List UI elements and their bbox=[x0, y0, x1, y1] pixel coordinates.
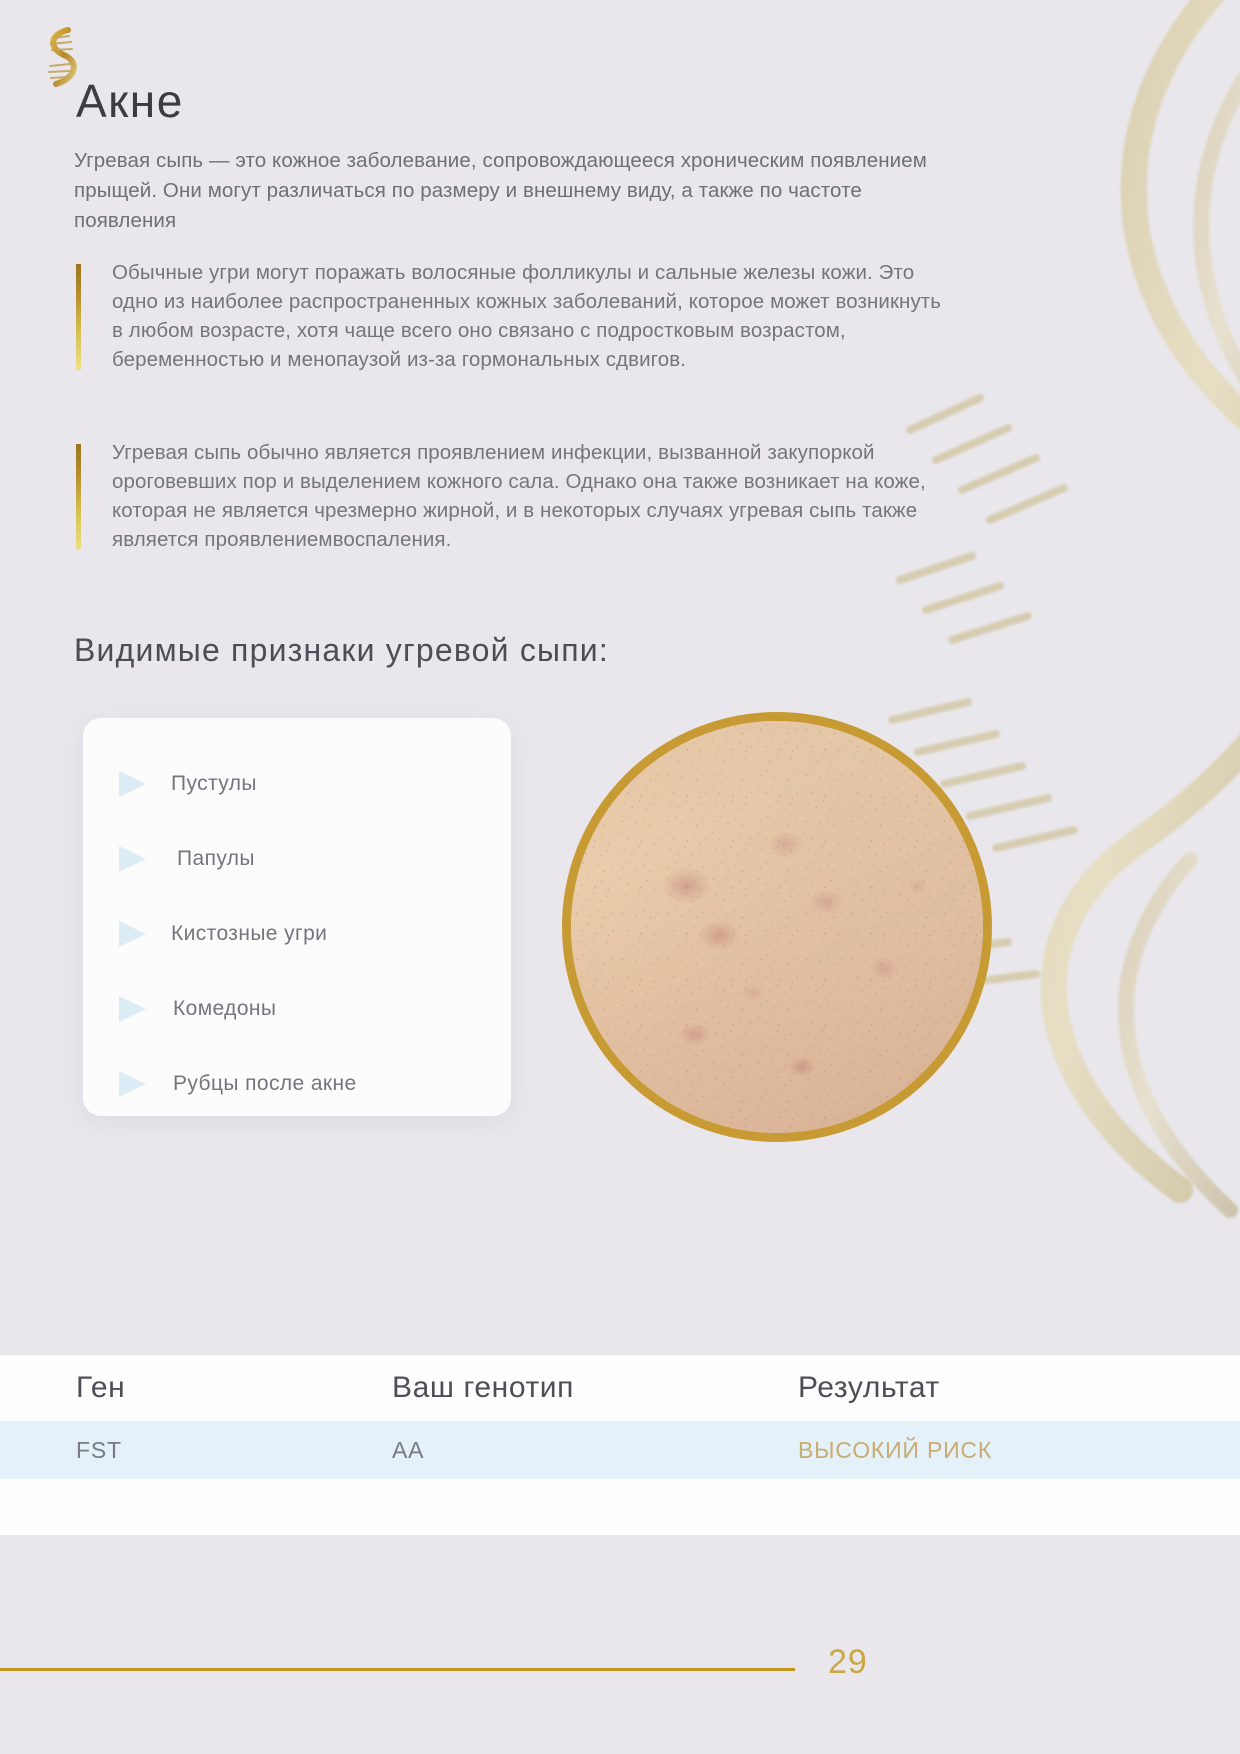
triangle-arrow-icon bbox=[113, 1069, 159, 1099]
symptoms-card: Пустулы Папулы Кистозные угри Комедоны Р… bbox=[83, 718, 511, 1116]
list-item: Папулы bbox=[83, 821, 511, 896]
list-item: Комедоны bbox=[83, 971, 511, 1046]
footer-divider bbox=[0, 1668, 795, 1671]
list-item: Кистозные угри bbox=[83, 896, 511, 971]
page-number: 29 bbox=[828, 1643, 868, 1682]
symptom-label: Пустулы bbox=[171, 772, 257, 796]
symptom-label: Комедоны bbox=[171, 997, 276, 1021]
symptom-label: Кистозные угри bbox=[171, 922, 327, 946]
symptom-label: Папулы bbox=[171, 847, 255, 871]
status-badge: ВЫСОКИЙ РИСК bbox=[798, 1437, 1240, 1464]
cell-genotype: АА bbox=[392, 1437, 798, 1464]
table-header-row: Ген Ваш генотип Результат bbox=[0, 1355, 1240, 1421]
triangle-arrow-icon bbox=[113, 994, 159, 1024]
column-header-gene: Ген bbox=[76, 1371, 392, 1405]
table-footer-spacer bbox=[0, 1479, 1240, 1535]
column-header-result: Результат bbox=[798, 1371, 1240, 1405]
column-header-genotype: Ваш генотип bbox=[392, 1371, 798, 1405]
skin-grain-texture bbox=[571, 721, 983, 1133]
symptoms-section-heading: Видимые признаки угревой сыпи: bbox=[74, 632, 609, 669]
results-table: Ген Ваш генотип Результат FST АА ВЫСОКИЙ… bbox=[0, 1355, 1240, 1535]
intro-paragraph: Угревая сыпь — это кожное заболевание, с… bbox=[74, 146, 954, 236]
quote-block-1: Обычные угри могут поражать волосяные фо… bbox=[76, 258, 956, 374]
list-item: Рубцы после акне bbox=[83, 1046, 511, 1121]
skin-closeup-acne-photo bbox=[562, 712, 992, 1142]
quote-block-2: Угревая сыпь обычно является проявлением… bbox=[76, 438, 956, 554]
page-title: Акне bbox=[76, 74, 184, 128]
cell-gene: FST bbox=[76, 1437, 392, 1464]
triangle-arrow-icon bbox=[113, 769, 159, 799]
table-row: FST АА ВЫСОКИЙ РИСК bbox=[0, 1421, 1240, 1479]
triangle-arrow-icon bbox=[113, 919, 159, 949]
triangle-arrow-icon bbox=[113, 844, 159, 874]
symptom-label: Рубцы после акне bbox=[171, 1072, 357, 1096]
list-item: Пустулы bbox=[83, 746, 511, 821]
